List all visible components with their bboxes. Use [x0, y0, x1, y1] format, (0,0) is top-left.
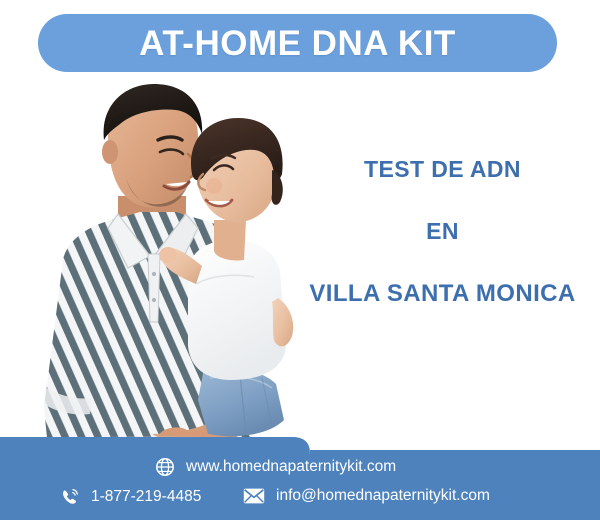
headline-line-preposition: EN [290, 220, 595, 243]
child-shirt [188, 240, 286, 380]
phone-icon [60, 487, 80, 507]
page-title: AT-HOME DNA KIT [139, 26, 456, 61]
header-banner: AT-HOME DNA KIT [38, 14, 557, 72]
dna-kit-promo-card: AT-HOME DNA KIT [0, 0, 600, 520]
website-url[interactable]: www.homednapaternitykit.com [186, 459, 396, 475]
footer-content: www.homednapaternitykit.com 1-877-219-44… [0, 430, 600, 520]
footer-website-row[interactable]: www.homednapaternitykit.com [155, 457, 396, 477]
child-hand [159, 247, 177, 263]
phone-number[interactable]: 1-877-219-4485 [91, 489, 201, 505]
headline-line-location: VILLA SANTA MONICA [290, 282, 595, 306]
headline-line-service: TEST DE ADN [290, 158, 595, 181]
email-address[interactable]: info@homednapaternitykit.com [276, 488, 490, 504]
footer-email-row[interactable]: info@homednapaternitykit.com [243, 487, 490, 505]
headline-block: TEST DE ADN EN VILLA SANTA MONICA [290, 158, 595, 306]
globe-icon [155, 457, 175, 477]
family-photo-illustration [0, 78, 310, 448]
footer-phone-row[interactable]: 1-877-219-4485 [60, 487, 201, 507]
family-photo [0, 78, 310, 448]
contact-footer: www.homednapaternitykit.com 1-877-219-44… [0, 430, 600, 520]
envelope-icon [243, 487, 265, 505]
